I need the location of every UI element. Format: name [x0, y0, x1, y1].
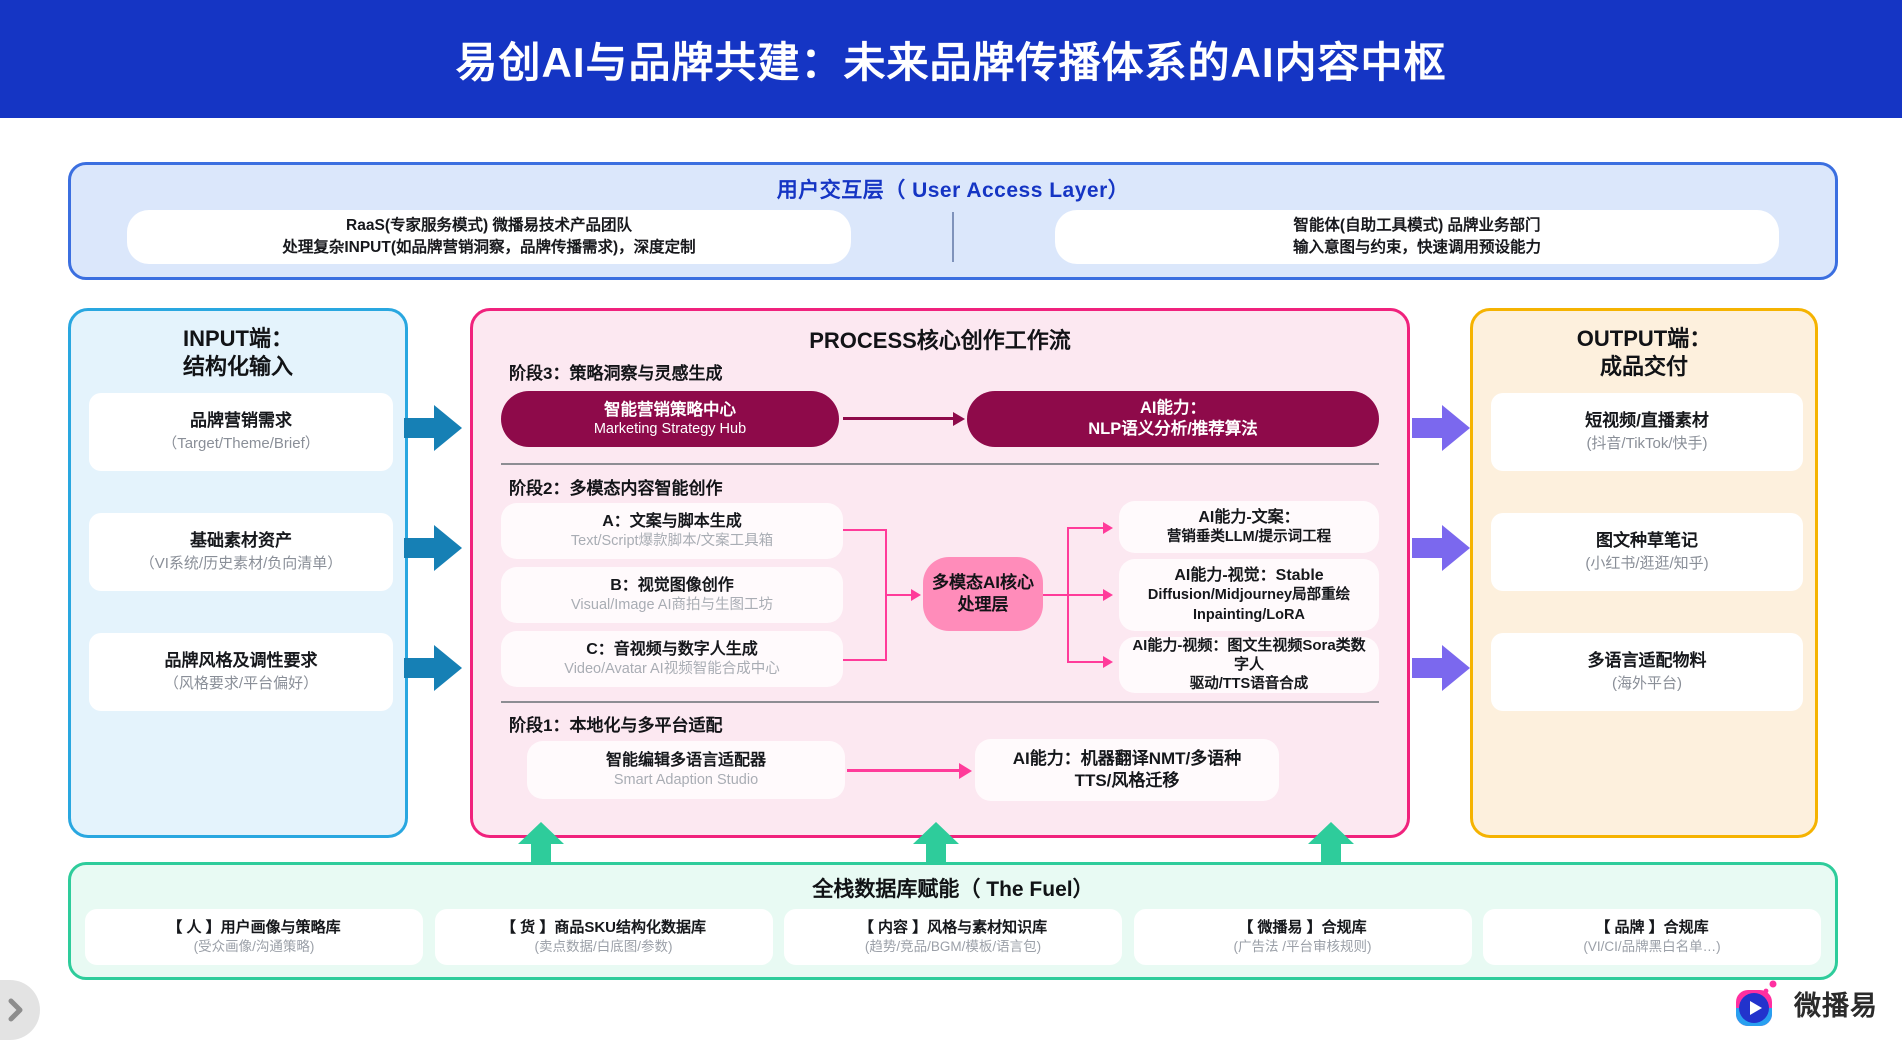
stage1-adaption-studio-card[interactable]: 智能编辑多语言适配器 Smart Adaption Studio [527, 741, 845, 799]
stage2-fan-arrow-2-icon [1103, 589, 1113, 601]
stage2-source-2-title: C：音视频与数字人生成 [586, 639, 758, 660]
fuel-card-0-sub: (受众画像/沟通策略) [194, 938, 315, 956]
fuel-card-2-sub: (趋势/竞品/BGM/模板/语言包) [865, 938, 1041, 956]
arrow-input-to-process-2-icon [404, 525, 462, 571]
brand-name: 微播易 [1794, 984, 1878, 1023]
stage2-multimodal-hub[interactable]: 多模态AI核心 处理层 [923, 557, 1043, 631]
stage3-connector-arrow-icon [953, 412, 965, 426]
arrow-process-to-output-2-icon [1412, 525, 1470, 571]
stage2-fan-arrow-1-icon [1103, 522, 1113, 534]
access-pill-raas-line1: RaaS(专家服务模式) 微播易技术产品团队 [346, 215, 632, 237]
page-title: 易创AI与品牌共建：未来品牌传播体系的AI内容中枢 [455, 29, 1446, 90]
output-card-short-video[interactable]: 短视频/直播素材 (抖音/TikTok/快手) [1491, 393, 1803, 471]
output-card-notes[interactable]: 图文种草笔记 (小红书/逛逛/知乎) [1491, 513, 1803, 591]
stage2-cap-1-line3: Inpainting/LoRA [1193, 606, 1305, 625]
stage2-cap-0-line2: 营销垂类LLM/提示词工程 [1167, 528, 1331, 547]
stage2-hub-line2: 处理层 [958, 595, 1009, 614]
stage1-right-line1: AI能力：机器翻译NMT/多语种 [1013, 748, 1242, 770]
input-title-line2: 结构化输入 [71, 353, 405, 381]
input-card-1-sub: （VI系统/历史素材/负向清单） [140, 554, 343, 574]
fuel-card-4-sub: (VI/CI/品牌黑白名单…) [1583, 938, 1720, 956]
fuel-card-row: 【 人 】用户画像与策略库 (受众画像/沟通策略) 【 货 】商品SKU结构化数… [71, 903, 1835, 965]
stage2-source-text-card[interactable]: A：文案与脚本生成 Text/Script爆款脚本/文案工具箱 [501, 503, 843, 559]
arrow-fuel-to-process-2-icon [913, 822, 959, 866]
fuel-card-1-sub: (卖点数据/白底图/参数) [535, 938, 673, 956]
stage2-cap-2-line1: AI能力-视频：图文生视频Sora类数字人 [1127, 636, 1371, 676]
access-layer-row: RaaS(专家服务模式) 微播易技术产品团队 处理复杂INPUT(如品牌营销洞察… [71, 204, 1835, 264]
stage3-divider [501, 463, 1379, 465]
stage2-capability-text-card[interactable]: AI能力-文案： 营销垂类LLM/提示词工程 [1119, 501, 1379, 553]
fuel-card-3-sub: (广告法 /平台审核规则) [1234, 938, 1372, 956]
stage2-cap-0-line1: AI能力-文案： [1198, 507, 1299, 528]
input-title-line1: INPUT端： [183, 326, 293, 351]
arrow-input-to-process-3-icon [404, 645, 462, 691]
input-card-asset-library[interactable]: 基础素材资产 （VI系统/历史素材/负向清单） [89, 513, 393, 591]
input-card-0-title: 品牌营销需求 [190, 410, 292, 432]
fuel-layer-title: 全栈数据库赋能（ The Fuel） [71, 873, 1835, 903]
stage2-fan-stub [1043, 594, 1069, 596]
fuel-card-people[interactable]: 【 人 】用户画像与策略库 (受众画像/沟通策略) [85, 909, 423, 965]
stage3-strategy-hub-node[interactable]: 智能营销策略中心 Marketing Strategy Hub [501, 391, 839, 447]
process-column: PROCESS核心创作工作流 阶段3：策略洞察与灵感生成 智能营销策略中心 Ma… [470, 308, 1410, 838]
output-card-2-sub: (海外平台) [1612, 674, 1682, 694]
stage2-source-1-title: B：视觉图像创作 [610, 575, 734, 596]
fuel-card-4-title: 【 品牌 】合规库 [1595, 918, 1708, 938]
stage1-capability-card[interactable]: AI能力：机器翻译NMT/多语种 TTS/风格迁移 [975, 739, 1279, 801]
stage3-right-line1: AI能力： [1140, 398, 1206, 419]
input-card-1-title: 基础素材资产 [190, 530, 292, 552]
stage2-label: 阶段2：多模态内容智能创作 [509, 474, 722, 499]
stage3-label: 阶段3：策略洞察与灵感生成 [509, 359, 722, 384]
fuel-layer: 全栈数据库赋能（ The Fuel） 【 人 】用户画像与策略库 (受众画像/沟… [68, 862, 1838, 980]
stage3-left-line1: 智能营销策略中心 [604, 400, 736, 421]
arrow-input-to-process-1-icon [404, 405, 462, 451]
input-card-brand-demand[interactable]: 品牌营销需求 （Target/Theme/Brief） [89, 393, 393, 471]
fuel-card-0-title: 【 人 】用户画像与策略库 [167, 918, 340, 938]
fuel-card-3-title: 【 微播易 】合规库 [1238, 918, 1366, 938]
input-card-0-sub: （Target/Theme/Brief） [162, 434, 320, 454]
stage2-bracket-top [843, 529, 887, 531]
arrow-process-to-output-3-icon [1412, 645, 1470, 691]
chevron-right-icon [6, 997, 26, 1023]
sidebar-expand-button[interactable] [0, 980, 40, 1040]
stage2-bracket-stub [885, 594, 913, 596]
input-card-2-sub: （风格要求/平台偏好） [164, 674, 318, 694]
stage2-bracket-bottom [843, 659, 887, 661]
access-pill-agent[interactable]: 智能体(自助工具模式) 品牌业务部门 输入意图与约束，快速调用预设能力 [1055, 210, 1779, 264]
input-card-brand-style[interactable]: 品牌风格及调性要求 （风格要求/平台偏好） [89, 633, 393, 711]
diagram-canvas: 易创AI与品牌共建：未来品牌传播体系的AI内容中枢 用户交互层（ User Ac… [0, 0, 1902, 1044]
output-card-0-sub: (抖音/TikTok/快手) [1586, 434, 1707, 454]
brand-logo: 微播易 [1730, 976, 1878, 1030]
stage2-source-2-sub: Video/Avatar AI视频智能合成中心 [564, 660, 779, 679]
process-column-title: PROCESS核心创作工作流 [473, 311, 1407, 355]
stage3-left-line2: Marketing Strategy Hub [594, 420, 746, 438]
stage2-source-0-title: A：文案与脚本生成 [602, 511, 742, 532]
stage2-fan-branch-1 [1067, 527, 1105, 529]
stage1-label: 阶段1：本地化与多平台适配 [509, 711, 722, 736]
fuel-card-2-title: 【 内容 】风格与素材知识库 [859, 918, 1047, 938]
stage2-capability-visual-card[interactable]: AI能力-视觉：Stable Diffusion/Midjourney局部重绘 … [1119, 559, 1379, 631]
user-access-layer: 用户交互层（ User Access Layer） RaaS(专家服务模式) 微… [68, 162, 1838, 280]
arrow-process-to-output-1-icon [1412, 405, 1470, 451]
stage2-source-1-sub: Visual/Image AI商拍与生图工坊 [571, 596, 773, 615]
stage2-capability-video-card[interactable]: AI能力-视频：图文生视频Sora类数字人 驱动/TTS语音合成 [1119, 637, 1379, 693]
stage2-cap-1-line2: Diffusion/Midjourney局部重绘 [1148, 586, 1350, 605]
access-pill-raas-line2: 处理复杂INPUT(如品牌营销洞察，品牌传播需求)，深度定制 [282, 237, 695, 259]
stage3-connector-line [843, 417, 955, 420]
access-pill-agent-line1: 智能体(自助工具模式) 品牌业务部门 [1293, 215, 1540, 237]
output-card-0-title: 短视频/直播素材 [1585, 410, 1709, 432]
fuel-card-goods[interactable]: 【 货 】商品SKU结构化数据库 (卖点数据/白底图/参数) [435, 909, 773, 965]
arrow-fuel-to-process-3-icon [1308, 822, 1354, 866]
output-card-1-title: 图文种草笔记 [1596, 530, 1698, 552]
output-title-line1: OUTPUT端： [1577, 326, 1711, 351]
access-pill-raas[interactable]: RaaS(专家服务模式) 微播易技术产品团队 处理复杂INPUT(如品牌营销洞察… [127, 210, 851, 264]
input-column: INPUT端： 结构化输入 品牌营销需求 （Target/Theme/Brief… [68, 308, 408, 838]
stage2-source-visual-card[interactable]: B：视觉图像创作 Visual/Image AI商拍与生图工坊 [501, 567, 843, 623]
access-layer-title: 用户交互层（ User Access Layer） [71, 174, 1835, 204]
output-title-line2: 成品交付 [1473, 353, 1815, 381]
access-divider [952, 212, 954, 262]
stage2-cap-1-line1: AI能力-视觉：Stable [1174, 565, 1323, 586]
access-pill-agent-line2: 输入意图与约束，快速调用预设能力 [1293, 237, 1541, 259]
stage3-ai-capability-node[interactable]: AI能力： NLP语义分析/推荐算法 [967, 391, 1379, 447]
input-column-title: INPUT端： 结构化输入 [71, 311, 405, 381]
page-header: 易创AI与品牌共建：未来品牌传播体系的AI内容中枢 [0, 0, 1902, 118]
play-button-logo-icon [1730, 976, 1784, 1030]
stage2-source-0-sub: Text/Script爆款脚本/文案工具箱 [571, 532, 773, 551]
stage1-connector-arrow-icon [959, 763, 972, 779]
stage2-fan-arrow-3-icon [1103, 656, 1113, 668]
fuel-card-weiboyi-compliance[interactable]: 【 微播易 】合规库 (广告法 /平台审核规则) [1134, 909, 1472, 965]
stage2-source-video-card[interactable]: C：音视频与数字人生成 Video/Avatar AI视频智能合成中心 [501, 631, 843, 687]
fuel-card-brand-compliance[interactable]: 【 品牌 】合规库 (VI/CI/品牌黑白名单…) [1483, 909, 1821, 965]
stage2-cap-2-line2: 驱动/TTS语音合成 [1190, 675, 1308, 694]
fuel-card-content[interactable]: 【 内容 】风格与素材知识库 (趋势/竞品/BGM/模板/语言包) [784, 909, 1122, 965]
stage2-fan-branch-3 [1067, 661, 1105, 663]
output-column: OUTPUT端： 成品交付 短视频/直播素材 (抖音/TikTok/快手) 图文… [1470, 308, 1818, 838]
output-card-multilingual[interactable]: 多语言适配物料 (海外平台) [1491, 633, 1803, 711]
stage1-connector-line [847, 769, 961, 772]
stage2-divider [501, 701, 1379, 703]
stage2-hub-line1: 多模态AI核心 [932, 573, 1034, 592]
stage3-right-line2: NLP语义分析/推荐算法 [1088, 419, 1258, 440]
stage1-right-line2: TTS/风格迁移 [1075, 770, 1180, 792]
stage2-hub-in-arrow-icon [911, 589, 921, 601]
stage2-fan-branch-2 [1067, 594, 1105, 596]
stage1-left-line1: 智能编辑多语言适配器 [606, 750, 766, 771]
output-card-1-sub: (小红书/逛逛/知乎) [1585, 554, 1708, 574]
arrow-fuel-to-process-1-icon [518, 822, 564, 866]
input-card-2-title: 品牌风格及调性要求 [165, 650, 318, 672]
output-card-2-title: 多语言适配物料 [1588, 650, 1707, 672]
fuel-card-1-title: 【 货 】商品SKU结构化数据库 [501, 918, 706, 938]
output-column-title: OUTPUT端： 成品交付 [1473, 311, 1815, 381]
stage1-left-line2: Smart Adaption Studio [614, 771, 758, 790]
